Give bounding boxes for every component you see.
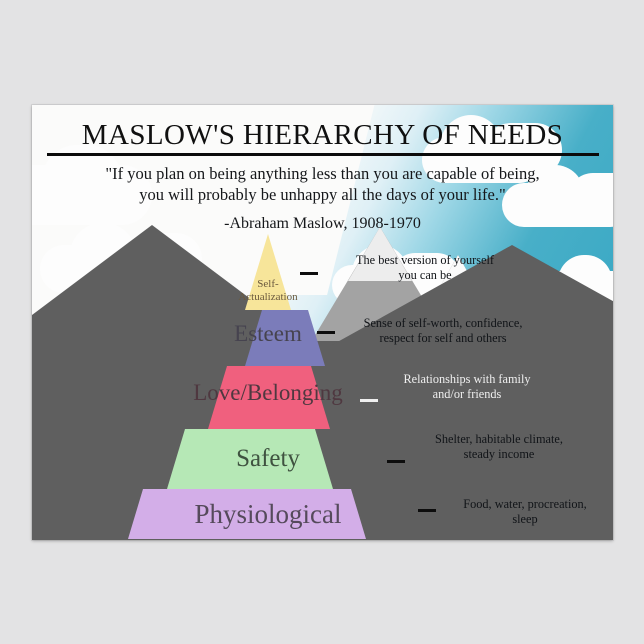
poster: Self- Actualization Esteem Love/Belongin… — [32, 105, 613, 540]
pyramid-tier-love-belonging-label: Love/Belonging — [148, 380, 388, 406]
annotation-dash-self-actualization — [300, 272, 318, 275]
annotation-safety: Shelter, habitable climate, steady incom… — [404, 432, 594, 462]
tier-label-esteem: Esteem — [234, 321, 302, 346]
annotation-physiological: Food, water, procreation, sleep — [434, 497, 613, 527]
pyramid-tier-esteem-label: Esteem — [178, 321, 358, 347]
poster-quote: "If you plan on being anything less than… — [55, 163, 591, 205]
poster-header: MASLOW'S HIERARCHY OF NEEDS "If you plan… — [32, 105, 613, 233]
title-underline — [47, 153, 599, 156]
annotation-esteem-line1: Sense of self-worth, confidence, — [335, 316, 551, 331]
poster-quote-line1: "If you plan on being anything less than… — [55, 163, 591, 184]
annotation-love-belonging: Relationships with family and/or friends — [377, 372, 557, 402]
annotation-safety-line2: steady income — [404, 447, 594, 462]
annotation-dash-physiological — [418, 509, 436, 512]
annotation-love-belonging-line1: Relationships with family — [377, 372, 557, 387]
annotation-self-actualization: The best version of yourself you can be — [320, 253, 530, 283]
annotation-love-belonging-line2: and/or friends — [377, 387, 557, 402]
annotation-physiological-line2: sleep — [434, 512, 613, 527]
tier-label-love-belonging: Love/Belonging — [193, 380, 342, 405]
pyramid-tier-self-actualization-labels: Self- Actualization — [218, 278, 318, 304]
tier-label-self-actualization-line2: Actualization — [218, 291, 318, 304]
annotation-esteem-line2: respect for self and others — [335, 331, 551, 346]
tier-label-safety: Safety — [236, 445, 300, 472]
poster-attribution: -Abraham Maslow, 1908-1970 — [32, 215, 613, 233]
pyramid-tier-physiological-label: Physiological — [138, 499, 398, 530]
screen: Self- Actualization Esteem Love/Belongin… — [0, 0, 644, 644]
annotation-safety-line1: Shelter, habitable climate, — [404, 432, 594, 447]
annotation-dash-love-belonging — [360, 399, 378, 402]
annotation-physiological-line1: Food, water, procreation, — [434, 497, 613, 512]
annotation-esteem: Sense of self-worth, confidence, respect… — [335, 316, 551, 346]
poster-quote-line2: you will probably be unhappy all the day… — [55, 184, 591, 205]
pyramid-tier-safety-label: Safety — [148, 445, 388, 473]
poster-title: MASLOW'S HIERARCHY OF NEEDS — [32, 119, 613, 152]
annotation-self-actualization-line2: you can be — [320, 268, 530, 283]
annotation-self-actualization-line1: The best version of yourself — [320, 253, 530, 268]
tier-label-physiological: Physiological — [195, 499, 342, 529]
tier-label-self-actualization-line1: Self- — [218, 278, 318, 291]
annotation-dash-safety — [387, 460, 405, 463]
annotation-dash-esteem — [317, 331, 335, 334]
